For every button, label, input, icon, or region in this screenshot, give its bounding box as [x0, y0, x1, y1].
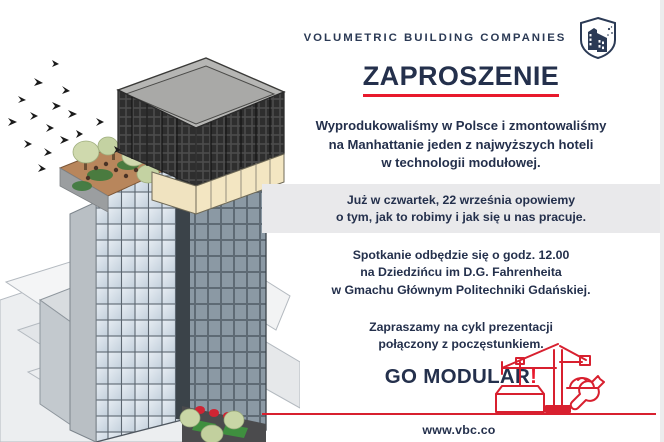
paragraph-where-line-2: na Dziedzińcu im D.G. Fahrenheita: [262, 264, 660, 281]
footer-website-url: www.vbc.co: [262, 423, 656, 437]
page-title: ZAPROSZENIE: [363, 62, 559, 97]
construction-crane-icon: [494, 336, 624, 414]
headline-text: ZAPROSZENIE: [363, 61, 559, 91]
headline-underline: [363, 94, 559, 97]
paragraph-intro-line-2: na Manhattanie jeden z najwyższych hotel…: [262, 136, 660, 155]
paragraph-invite-line-1: Zapraszamy na cykl prezentacji: [262, 319, 660, 336]
paragraph-where-line-3: w Gmachu Głównym Politechniki Gdańskiej.: [262, 282, 660, 299]
paragraph-intro-line-3: w technologii modułowej.: [262, 154, 660, 173]
paragraph-when-line-2: o tym, jak to robimy i jak się u nas pra…: [262, 209, 660, 226]
shield-building-icon: [578, 16, 618, 60]
headline-block: ZAPROSZENIE: [262, 62, 660, 97]
paragraph-when-line-1: Już w czwartek, 22 września opowiemy: [262, 192, 660, 209]
content-column: VOLUMETRIC BUILDING COMPANIES: [262, 0, 660, 442]
paragraph-where-line-1: Spotkanie odbędzie się o godz. 12.00: [262, 247, 660, 264]
tower-service-core: [70, 202, 96, 442]
brand-header: VOLUMETRIC BUILDING COMPANIES: [262, 16, 660, 60]
paragraph-when: Już w czwartek, 22 września opowiemy o t…: [262, 192, 660, 227]
paragraph-intro-line-1: Wyprodukowaliśmy w Polsce i zmontowaliśm…: [262, 117, 660, 136]
footer-divider: [262, 413, 656, 415]
right-edge-strip: [660, 0, 664, 442]
brand-name: VOLUMETRIC BUILDING COMPANIES: [304, 32, 567, 44]
invitation-poster: VOLUMETRIC BUILDING COMPANIES: [0, 0, 664, 442]
paragraph-where: Spotkanie odbędzie się o godz. 12.00 na …: [262, 247, 660, 299]
paragraph-intro: Wyprodukowaliśmy w Polsce i zmontowaliśm…: [262, 117, 660, 173]
building-render-illustration: [0, 0, 300, 442]
